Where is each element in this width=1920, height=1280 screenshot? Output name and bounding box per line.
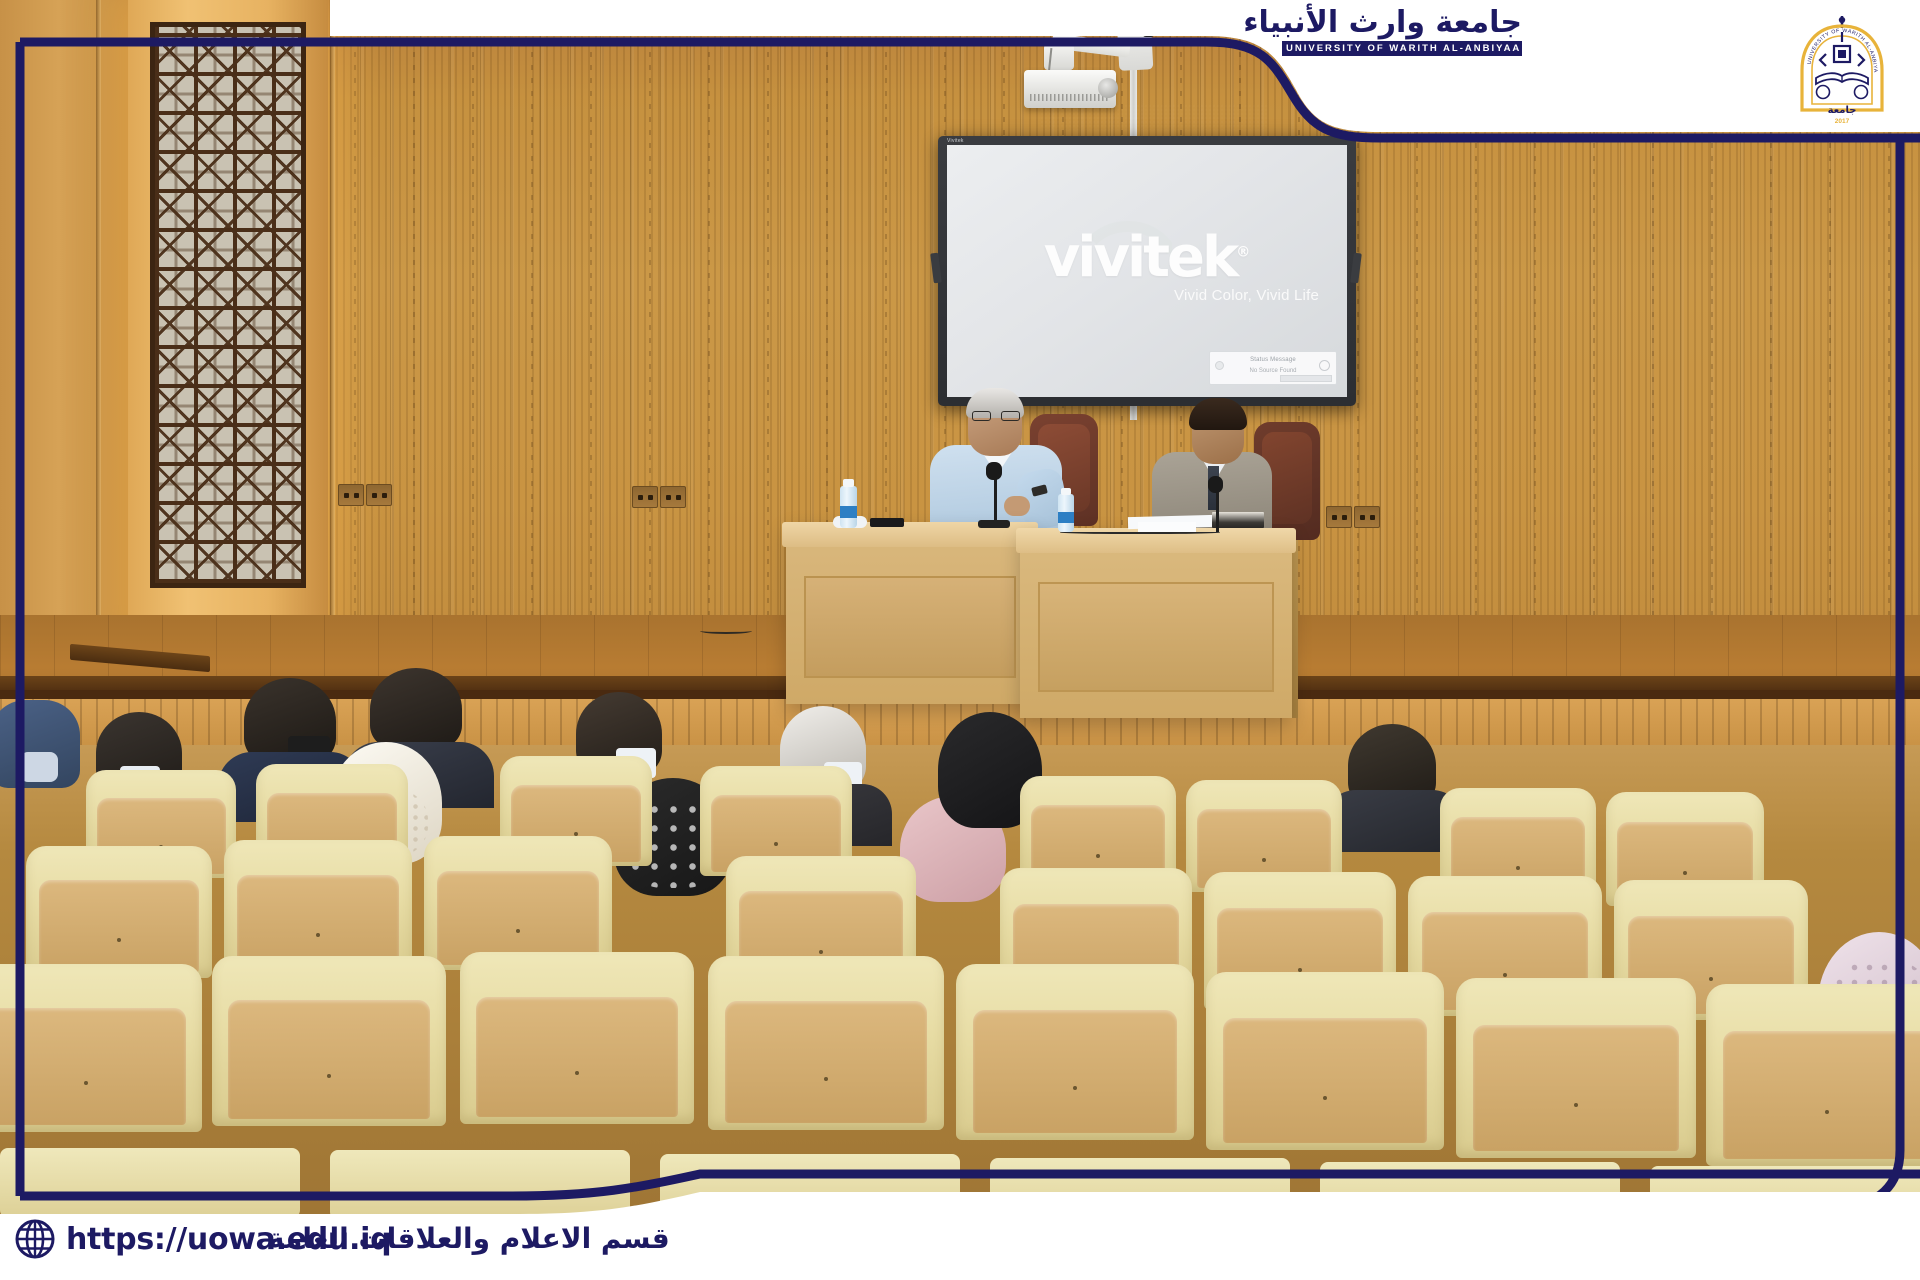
seat-armrest [0,1148,300,1218]
wall-socket [338,484,364,506]
wall-socket [660,486,686,508]
seal-finial-dot [1839,17,1845,23]
status-dialog-message: No Source Found [1210,368,1336,374]
wordmark-arabic: جامعة وارث الأنبياء [1282,8,1522,38]
auditorium-seat [1706,984,1920,1166]
seal-year: 2017 [1835,118,1850,125]
wall-seam [96,0,101,660]
seat-back-panel [1723,1031,1920,1158]
status-dialog: Status Message No Source Found [1209,351,1337,385]
auditorium-seat [212,956,446,1126]
seal-medallion-right [1855,86,1868,99]
auditorium-seat [956,964,1194,1140]
vivitek-logo: vivitek® Vivid Color, Vivid Life [947,233,1347,304]
seat-back-panel [476,997,677,1117]
table-front-panel [804,576,1016,678]
mobile-phone [870,518,904,527]
microphone-base-left [978,520,1010,528]
status-dialog-title: Status Message [1210,357,1336,363]
seat-armrest [330,1150,630,1220]
wall-socket [1354,506,1380,528]
seat-back-panel [1473,1025,1679,1151]
floor-cable [700,628,752,634]
microphone-cable [1060,530,1220,534]
water-bottle [840,486,857,528]
registered-mark: ® [1236,244,1250,260]
status-progress-bar [1280,375,1332,382]
department-label: قسم الاعلام والعلاقات العامة [268,1222,670,1255]
seat-back-panel [39,880,199,972]
interactive-whiteboard: Vivitek vivitek® Vivid Color, Vivid Life… [938,136,1356,406]
speaker-left-hand [1004,496,1030,516]
notebook [1212,512,1264,528]
wall-socket [366,484,392,506]
seal-arabic-text: جامعة [1828,105,1857,116]
auditorium-seat [708,956,944,1130]
university-seal: UNIVERSITY OF WARITH AL-ANBIYAA جامعة 20… [1790,12,1894,128]
table-front-panel [1038,582,1274,692]
seat-armrest [1320,1162,1620,1232]
wordmark-english: UNIVERSITY OF WARITH AL-ANBIYAA [1282,41,1522,56]
seat-armrest [660,1154,960,1224]
seat-back-panel [0,1008,186,1126]
seat-armrest [1650,1166,1920,1236]
seal-open-book [1816,73,1868,84]
seat-back-panel [437,871,599,965]
seat-back-panel [725,1001,928,1123]
presenter-table-left [786,522,1034,704]
seat-armrest [990,1158,1290,1228]
wall-socket [632,486,658,508]
auditorium-seat [460,952,694,1124]
seat-back-panel [1223,1018,1428,1143]
whiteboard-bezel-brand: Vivitek [947,138,964,144]
seat-back-panel [237,875,399,969]
auditorium-seat [224,840,412,974]
university-wordmark: جامعة وارث الأنبياء UNIVERSITY OF WARITH… [1282,8,1522,56]
auditorium-seat [0,964,202,1132]
wall-seam [330,0,335,660]
face-mask [20,752,58,782]
projector-knob [1142,26,1155,37]
microphone-head-right [1208,476,1223,493]
auditorium-seat [424,836,612,970]
eyeglasses [972,411,1020,421]
auditorium-seat [1206,972,1444,1150]
wall-left-warm-strip [0,0,130,660]
water-bottle [1058,494,1074,532]
wall-socket [1326,506,1352,528]
seat-back-panel [228,1000,429,1119]
seat-back-panel [973,1010,1178,1133]
globe-icon [14,1218,56,1260]
whiteboard-screen: vivitek® Vivid Color, Vivid Life Status … [947,145,1347,397]
auditorium-seat [1456,978,1696,1158]
audience-head [370,668,462,750]
vivitek-wordmark: vivitek [1044,225,1236,290]
mashrabiya-panel-frame [128,0,328,640]
presenter-table-right [1020,528,1292,718]
projector-lens [1098,78,1118,98]
microphone-head-left [986,462,1002,480]
mashrabiya-lattice [150,22,306,588]
event-photograph: Vivitek vivitek® Vivid Color, Vivid Life… [0,0,1920,1280]
screenshot-root: Vivitek vivitek® Vivid Color, Vivid Life… [0,0,1920,1280]
soundbar-speaker [1040,104,1268,130]
seal-medallion-left [1817,86,1830,99]
auditorium-seat [26,846,212,978]
